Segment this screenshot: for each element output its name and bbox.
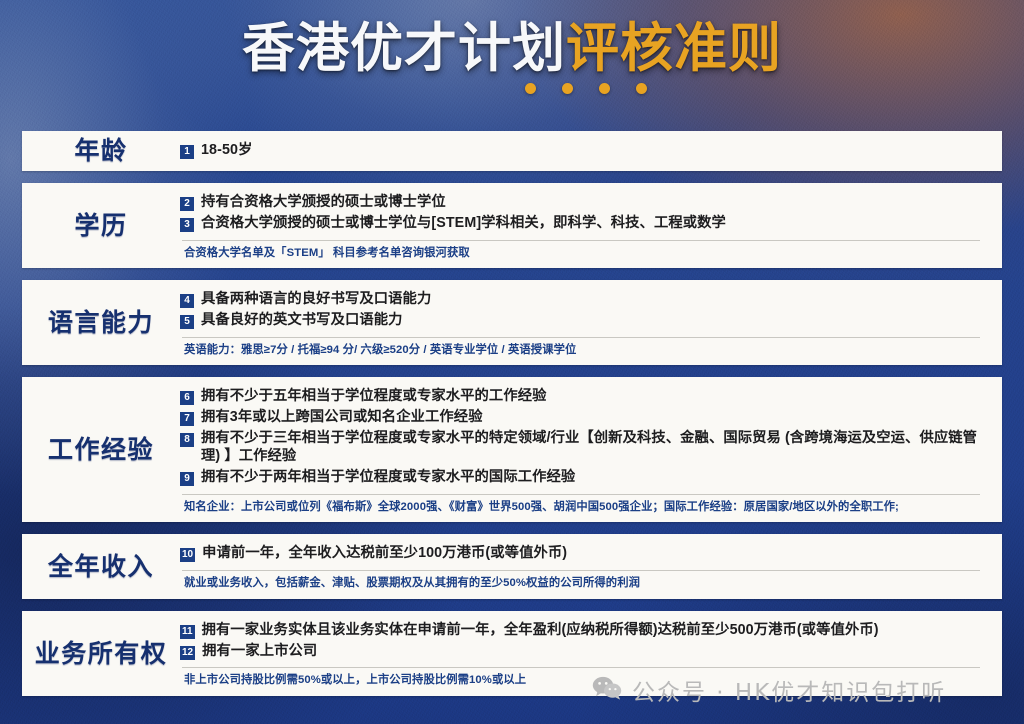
criteria-item: 9拥有不少于两年相当于学位程度或专家水平的国际工作经验 [180,469,988,487]
title-dot [562,83,573,94]
criteria-category-label: 工作经验 [22,377,180,522]
criteria-item-number-badge: 9 [180,472,194,486]
title-dot [599,83,610,94]
criteria-category-label: 业务所有权 [22,611,180,696]
criteria-body: 118-50岁 [180,131,1002,171]
criteria-item: 3合资格大学颁授的硕士或博士学位与[STEM]学科相关，即科学、科技、工程或数学 [180,215,988,233]
page-title: 香港优才计划评核准则 [0,22,1024,118]
criteria-item-text: 拥有3年或以上跨国公司或知名企业工作经验 [201,409,483,427]
criteria-item: 10申请前一年，全年收入达税前至少100万港币(或等值外币) [180,545,988,563]
criteria-item-number-badge: 5 [180,315,194,329]
criteria-item-number-badge: 4 [180,294,194,308]
criteria-item-number-badge: 2 [180,197,194,211]
criteria-footnote: 知名企业：上市公司或位列《福布斯》全球2000强、《财富》世界500强、胡润中国… [180,495,988,515]
criteria-body: 6拥有不少于五年相当于学位程度或专家水平的工作经验7拥有3年或以上跨国公司或知名… [180,377,1002,522]
criteria-item-number-badge: 11 [180,625,195,639]
criteria-footnote: 英语能力：雅思≥7分 / 托福≥94 分/ 六级≥520分 / 英语专业学位 /… [180,338,988,358]
criteria-body: 4具备两种语言的良好书写及口语能力5具备良好的英文书写及口语能力英语能力：雅思≥… [180,280,1002,365]
criteria-item-text: 拥有不少于两年相当于学位程度或专家水平的国际工作经验 [201,469,575,487]
criteria-item-number-badge: 1 [180,145,194,159]
criteria-item-number-badge: 8 [180,433,194,447]
criteria-item-text: 拥有不少于三年相当于学位程度或专家水平的特定领域/行业【创新及科技、金融、国际贸… [201,430,988,466]
criteria-category-text: 学历 [74,212,127,240]
criteria-item: 5具备良好的英文书写及口语能力 [180,312,988,330]
infographic-page: 香港优才计划评核准则 年龄118-50岁学历2持有合资格大学颁授的硕士或博士学位… [0,0,1024,724]
criteria-item: 6拥有不少于五年相当于学位程度或专家水平的工作经验 [180,388,988,406]
criteria-rows: 年龄118-50岁学历2持有合资格大学颁授的硕士或博士学位3合资格大学颁授的硕士… [22,131,1002,708]
criteria-card: 年龄118-50岁 [22,131,1002,171]
criteria-category-label: 学历 [22,183,180,268]
criteria-item-text: 拥有不少于五年相当于学位程度或专家水平的工作经验 [201,388,547,406]
criteria-card: 业务所有权11拥有一家业务实体且该业务实体在申请前一年，全年盈利(应纳税所得额)… [22,611,1002,696]
criteria-item-text: 持有合资格大学颁授的硕士或博士学位 [201,194,446,212]
criteria-footnote: 合资格大学名单及「STEM」 科目参考名单咨询银河获取 [180,241,988,261]
criteria-card: 语言能力4具备两种语言的良好书写及口语能力5具备良好的英文书写及口语能力英语能力… [22,280,1002,365]
criteria-item-text: 具备两种语言的良好书写及口语能力 [201,291,431,309]
title-text: 香港优才计划评核准则 [0,22,1024,75]
criteria-category-label: 全年收入 [22,534,180,598]
criteria-footnote: 就业或业务收入，包括薪金、津贴、股票期权及从其拥有的至少50%权益的公司所得的利… [180,571,988,591]
criteria-item-number-badge: 3 [180,218,194,232]
criteria-body: 10申请前一年，全年收入达税前至少100万港币(或等值外币)就业或业务收入，包括… [180,534,1002,598]
criteria-card: 学历2持有合资格大学颁授的硕士或博士学位3合资格大学颁授的硕士或博士学位与[ST… [22,183,1002,268]
criteria-category-label: 年龄 [22,131,180,171]
criteria-category-text: 业务所有权 [35,640,168,668]
criteria-item-number-badge: 7 [180,412,194,426]
title-dots [0,83,1024,95]
criteria-body: 2持有合资格大学颁授的硕士或博士学位3合资格大学颁授的硕士或博士学位与[STEM… [180,183,1002,268]
criteria-card: 工作经验6拥有不少于五年相当于学位程度或专家水平的工作经验7拥有3年或以上跨国公… [22,377,1002,522]
criteria-item: 12拥有一家上市公司 [180,643,988,661]
criteria-category-label: 语言能力 [22,280,180,365]
criteria-category-text: 语言能力 [48,309,154,337]
criteria-category-text: 年龄 [74,137,127,165]
criteria-category-text: 全年收入 [48,553,154,581]
criteria-item: 4具备两种语言的良好书写及口语能力 [180,291,988,309]
criteria-item-number-badge: 12 [180,646,195,660]
criteria-item-text: 拥有一家业务实体且该业务实体在申请前一年，全年盈利(应纳税所得额)达税前至少50… [202,622,879,640]
criteria-item-text: 具备良好的英文书写及口语能力 [201,312,403,330]
criteria-item-number-badge: 10 [180,548,195,562]
criteria-footnote: 非上市公司持股比例需50%或以上，上市公司持股比例需10%或以上 [180,668,988,688]
title-dot [525,83,536,94]
criteria-item: 11拥有一家业务实体且该业务实体在申请前一年，全年盈利(应纳税所得额)达税前至少… [180,622,988,640]
criteria-item-number-badge: 6 [180,391,194,405]
criteria-item: 7拥有3年或以上跨国公司或知名企业工作经验 [180,409,988,427]
title-gold-part: 评核准则 [566,17,782,79]
criteria-item-text: 拥有一家上市公司 [202,643,317,661]
criteria-body: 11拥有一家业务实体且该业务实体在申请前一年，全年盈利(应纳税所得额)达税前至少… [180,611,1002,696]
criteria-item-text: 申请前一年，全年收入达税前至少100万港币(或等值外币) [202,545,567,563]
criteria-item: 118-50岁 [180,142,988,160]
criteria-item: 8拥有不少于三年相当于学位程度或专家水平的特定领域/行业【创新及科技、金融、国际… [180,430,988,466]
title-dot [636,83,647,94]
criteria-item-text: 合资格大学颁授的硕士或博士学位与[STEM]学科相关，即科学、科技、工程或数学 [201,215,726,233]
title-white-part: 香港优才计划 [242,17,566,79]
criteria-card: 全年收入10申请前一年，全年收入达税前至少100万港币(或等值外币)就业或业务收… [22,534,1002,598]
criteria-category-text: 工作经验 [48,436,154,464]
criteria-item: 2持有合资格大学颁授的硕士或博士学位 [180,194,988,212]
criteria-item-text: 18-50岁 [201,142,252,160]
